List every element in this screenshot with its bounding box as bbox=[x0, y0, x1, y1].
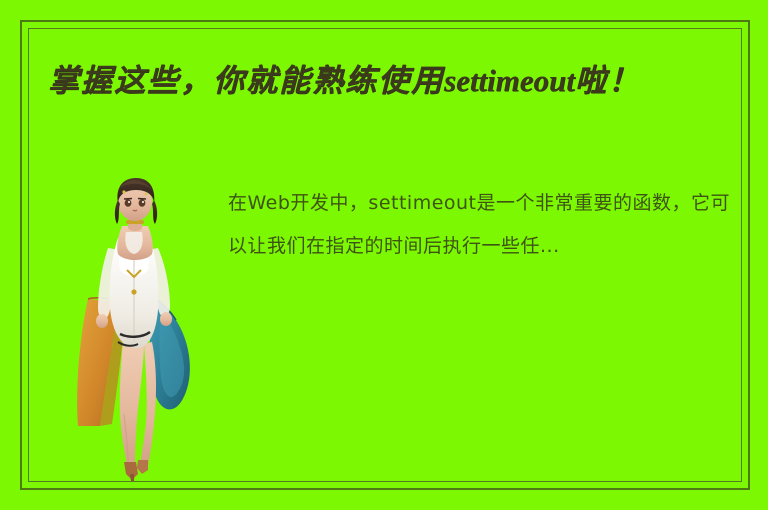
upper-body-shape bbox=[117, 226, 153, 260]
legs-shape bbox=[120, 342, 156, 466]
title-keyword: settimeout bbox=[444, 63, 575, 98]
anime-girl-with-shopping-bags-illustration bbox=[60, 174, 220, 482]
article-card: 掌握这些，你就能熟练使用settimeout啦！ bbox=[0, 0, 768, 510]
head-shape bbox=[115, 178, 157, 224]
title-lead-text: 掌握这些，你就能熟练使用 bbox=[48, 63, 444, 98]
high-heel-shoes-shape bbox=[124, 460, 148, 481]
page-title: 掌握这些，你就能熟练使用settimeout啦！ bbox=[48, 58, 708, 104]
article-summary-text: 在Web开发中，settimeout是一个非常重要的函数，它可以让我们在指定的时… bbox=[228, 182, 740, 268]
card-content: 在Web开发中，settimeout是一个非常重要的函数，它可以让我们在指定的时… bbox=[28, 168, 742, 482]
title-tail-text: 啦！ bbox=[575, 63, 641, 98]
